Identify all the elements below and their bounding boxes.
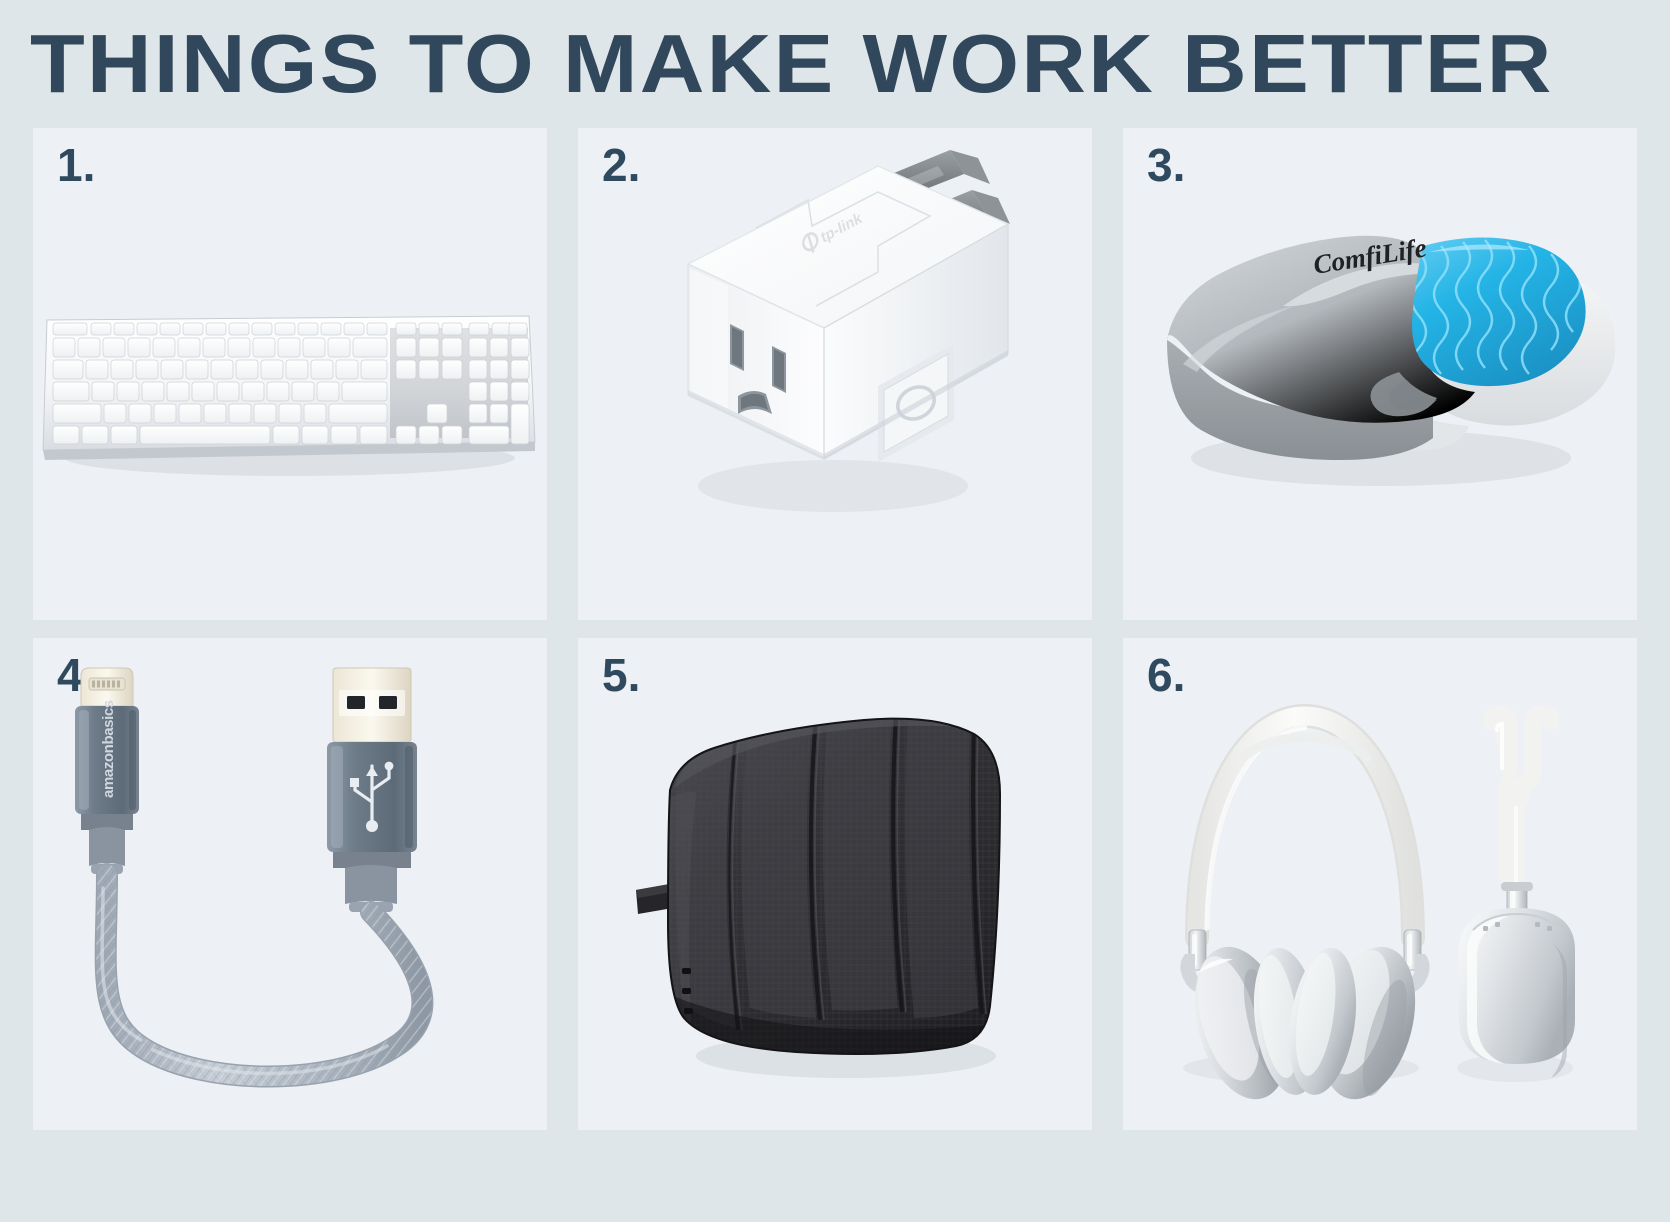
headphones-icon bbox=[1123, 638, 1637, 1130]
product-card-1[interactable]: 1. bbox=[33, 128, 547, 620]
product-card-6[interactable]: 6. bbox=[1123, 638, 1637, 1130]
seat-cushion-icon: ComfiLife bbox=[1123, 128, 1637, 620]
product-card-4[interactable]: 4. bbox=[33, 638, 547, 1130]
product-card-2[interactable]: 2. bbox=[578, 128, 1092, 620]
keyboard-icon bbox=[33, 128, 547, 620]
product-card-3[interactable]: 3. bbox=[1123, 128, 1637, 620]
page-title: THINGS TO MAKE WORK BETTER bbox=[30, 18, 1670, 110]
product-grid: 1. bbox=[33, 128, 1637, 1206]
smart-plug-icon: tp-link bbox=[578, 128, 1092, 620]
lumbar-pillow-icon bbox=[578, 638, 1092, 1130]
page-root: THINGS TO MAKE WORK BETTER 1. bbox=[0, 0, 1670, 1222]
usb-cable-icon: amazonbasics bbox=[33, 638, 547, 1130]
product-card-5[interactable]: 5. bbox=[578, 638, 1092, 1130]
amazonbasics-logo-text-left: amazonbasics bbox=[100, 700, 117, 798]
